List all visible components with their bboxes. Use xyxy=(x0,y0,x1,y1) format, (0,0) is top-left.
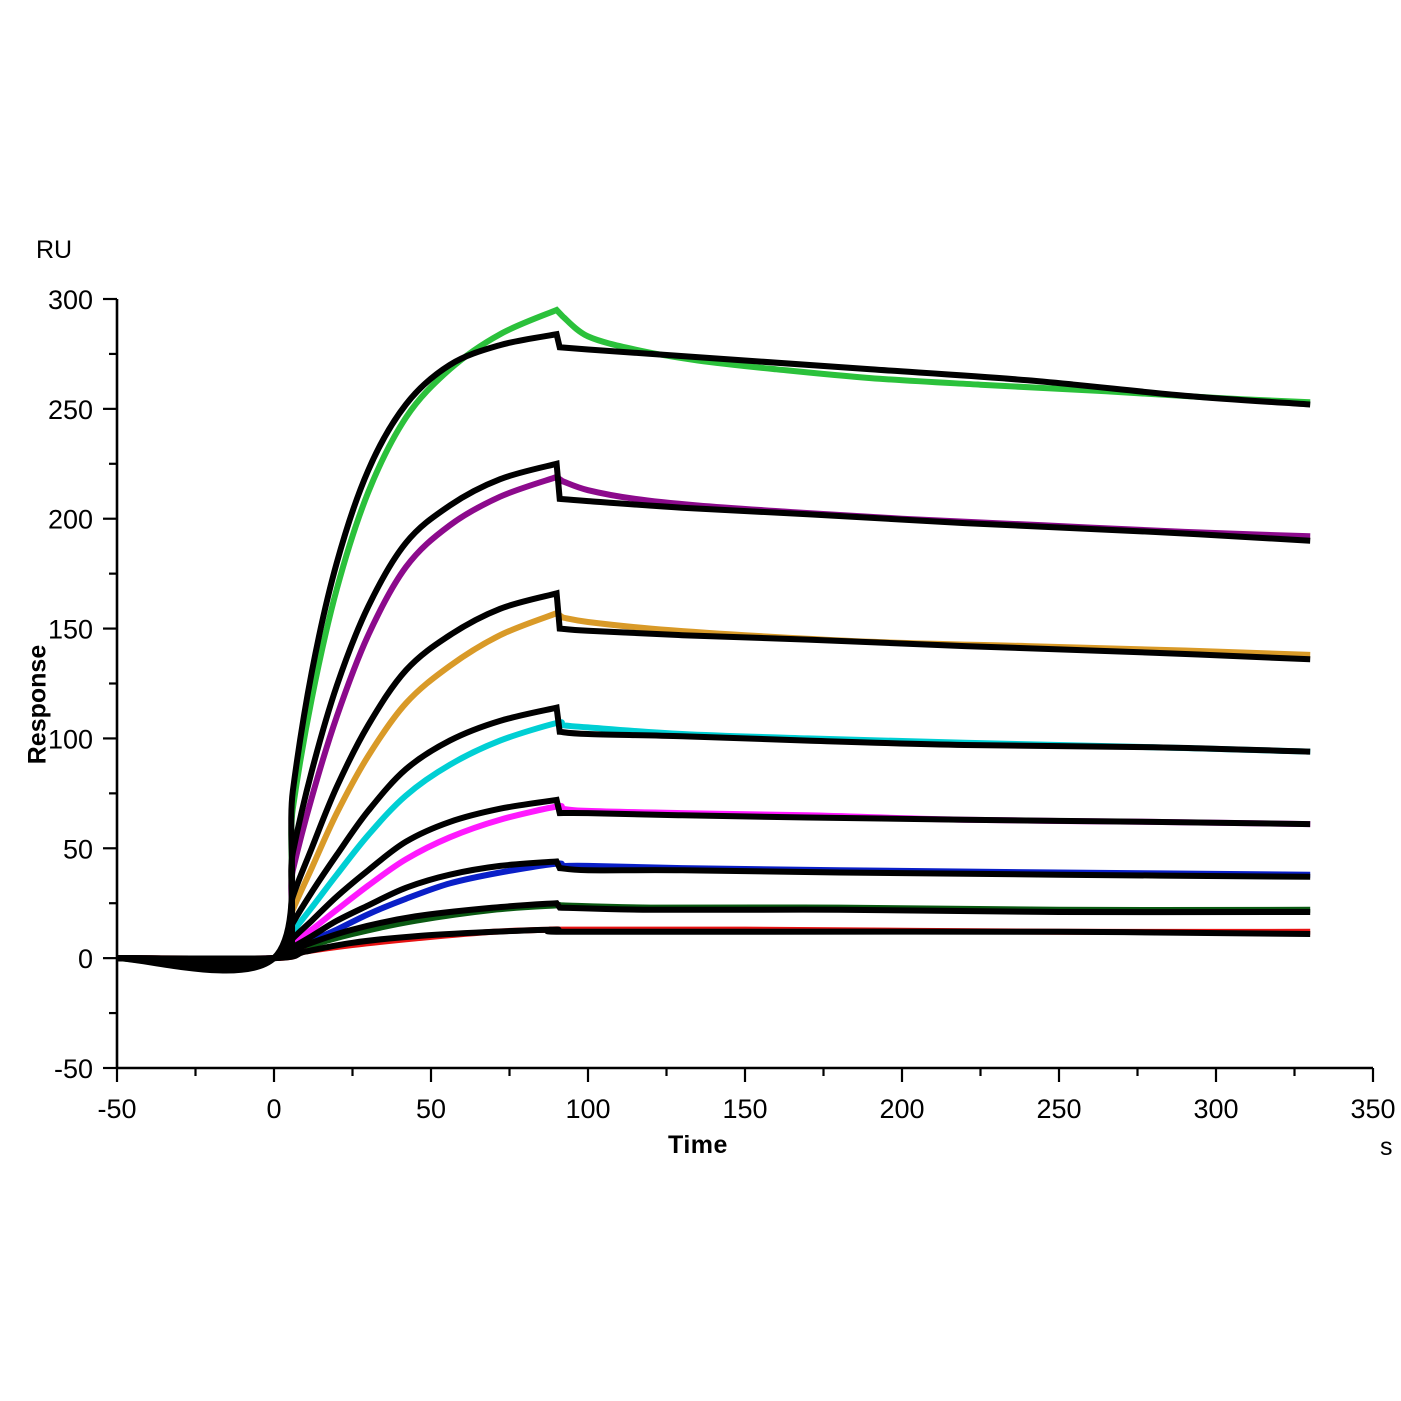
y-tick-label: 150 xyxy=(48,615,93,645)
x-tick-label: 300 xyxy=(1193,1094,1238,1124)
x-tick-label: 150 xyxy=(722,1094,767,1124)
y-tick-label: 250 xyxy=(48,395,93,425)
x-tick-label: 0 xyxy=(266,1094,281,1124)
y-tick-label: 200 xyxy=(48,505,93,535)
x-tick-label: 100 xyxy=(565,1094,610,1124)
y-tick-label: -50 xyxy=(54,1054,93,1084)
y-tick-label: 100 xyxy=(48,724,93,754)
axes xyxy=(103,299,1373,1082)
x-tick-label: -50 xyxy=(97,1094,136,1124)
plot-area: -50050100150200250300350-500501001502002… xyxy=(0,0,1401,1401)
y-tick-label: 0 xyxy=(78,944,93,974)
data-series xyxy=(117,310,1310,971)
y-tick-label: 50 xyxy=(63,834,93,864)
x-tick-label: 350 xyxy=(1350,1094,1395,1124)
y-tick-label: 300 xyxy=(48,285,93,315)
x-tick-label: 50 xyxy=(416,1094,446,1124)
tick-labels: -50050100150200250300350-500501001502002… xyxy=(48,285,1396,1124)
x-tick-label: 250 xyxy=(1036,1094,1081,1124)
x-tick-label: 200 xyxy=(879,1094,924,1124)
sensorgram-chart: RU s Time Response -50050100150200250300… xyxy=(0,0,1401,1401)
